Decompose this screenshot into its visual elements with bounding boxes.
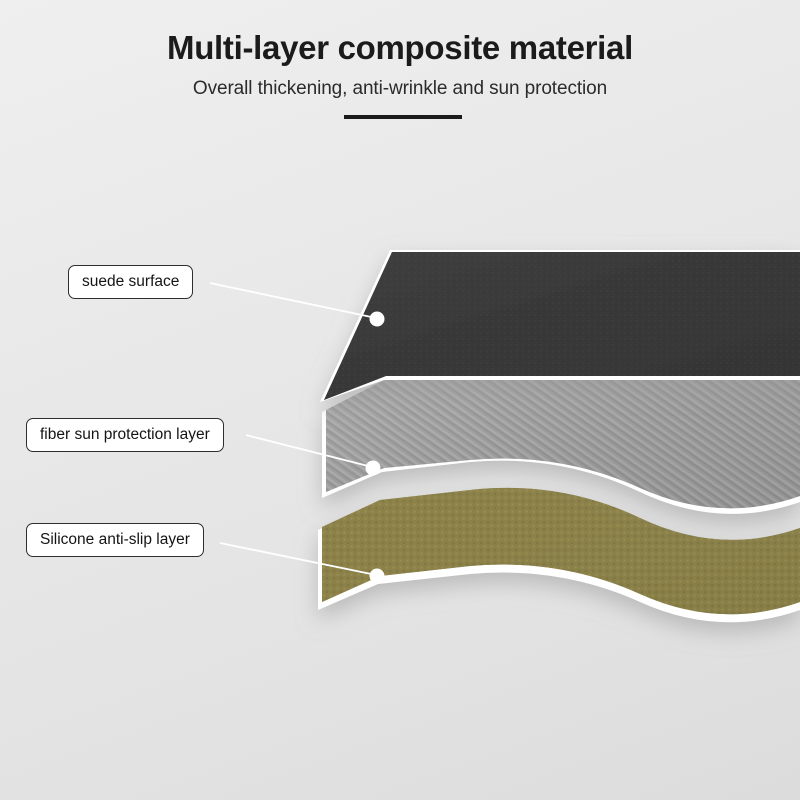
page-subtitle: Overall thickening, anti-wrinkle and sun… xyxy=(0,78,800,100)
callout-label-fiber: fiber sun protection layer xyxy=(26,418,224,452)
callout-label-silicone: Silicone anti-slip layer xyxy=(26,523,204,557)
header: Multi-layer composite material Overall t… xyxy=(0,28,800,100)
diagram-canvas: Multi-layer composite material Overall t… xyxy=(0,0,800,800)
title-underline xyxy=(344,115,462,119)
callout-label-suede: suede surface xyxy=(68,265,193,299)
page-title: Multi-layer composite material xyxy=(0,28,800,68)
layer-shape-suede xyxy=(320,250,800,402)
layer-stack xyxy=(0,230,800,700)
